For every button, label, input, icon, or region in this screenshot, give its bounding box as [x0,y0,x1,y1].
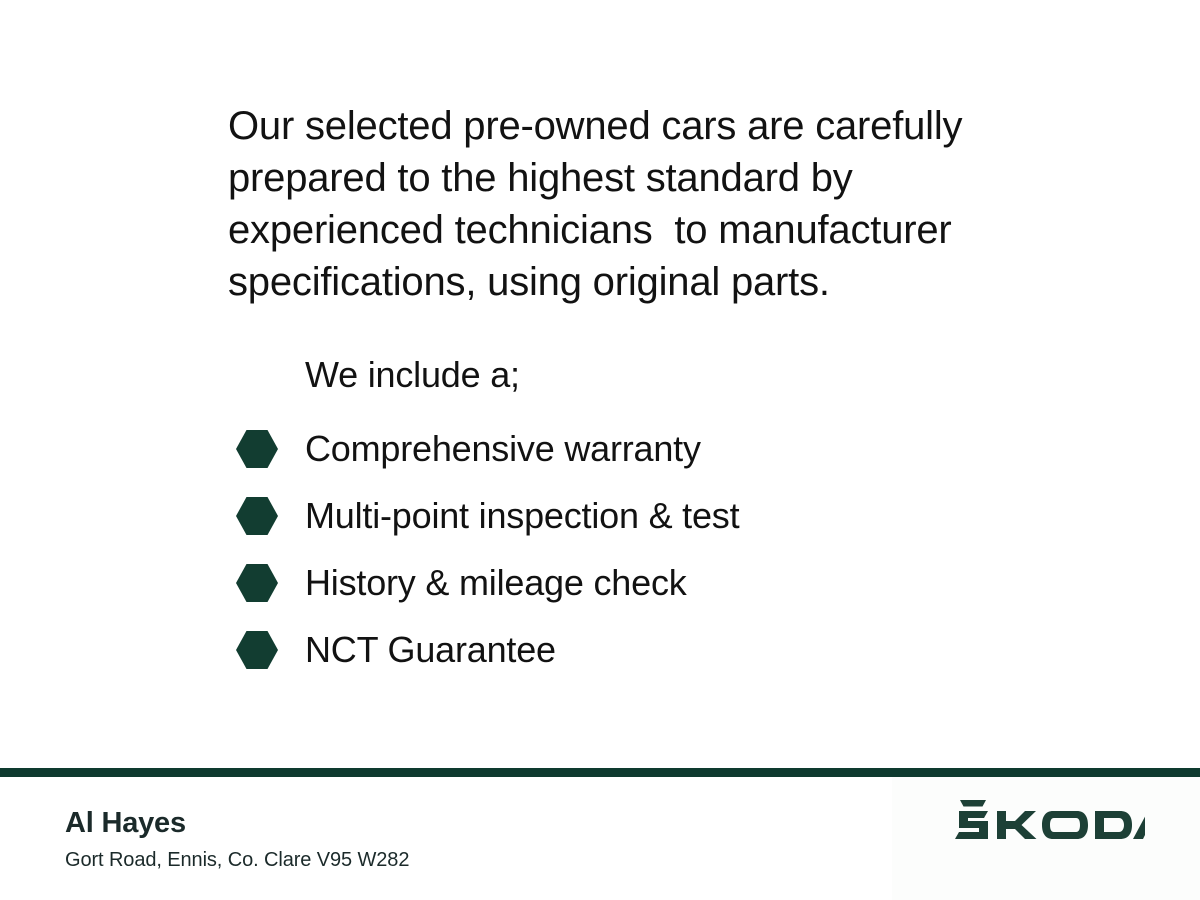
hexagon-bullet-icon [236,564,278,602]
headline-text: Our selected pre-owned cars are carefull… [228,100,1028,308]
dealer-name: Al Hayes [65,807,186,840]
list-item: History & mileage check [236,549,1036,616]
benefits-list: Comprehensive warranty Multi-point inspe… [236,415,1036,683]
promo-slide: Our selected pre-owned cars are carefull… [0,0,1200,900]
benefit-label: History & mileage check [305,561,687,605]
dealer-address: Gort Road, Ennis, Co. Clare V95 W282 [65,849,409,872]
skoda-wordmark-logo [955,800,1145,842]
list-item: Comprehensive warranty [236,415,1036,482]
benefit-label: NCT Guarantee [305,628,556,672]
hexagon-bullet-icon [236,497,278,535]
list-item: Multi-point inspection & test [236,482,1036,549]
benefit-label: Multi-point inspection & test [305,494,739,538]
footer-divider [0,768,1200,777]
include-intro-text: We include a; [305,352,520,398]
hexagon-bullet-icon [236,430,278,468]
hexagon-bullet-icon [236,631,278,669]
benefit-label: Comprehensive warranty [305,427,701,471]
list-item: NCT Guarantee [236,616,1036,683]
